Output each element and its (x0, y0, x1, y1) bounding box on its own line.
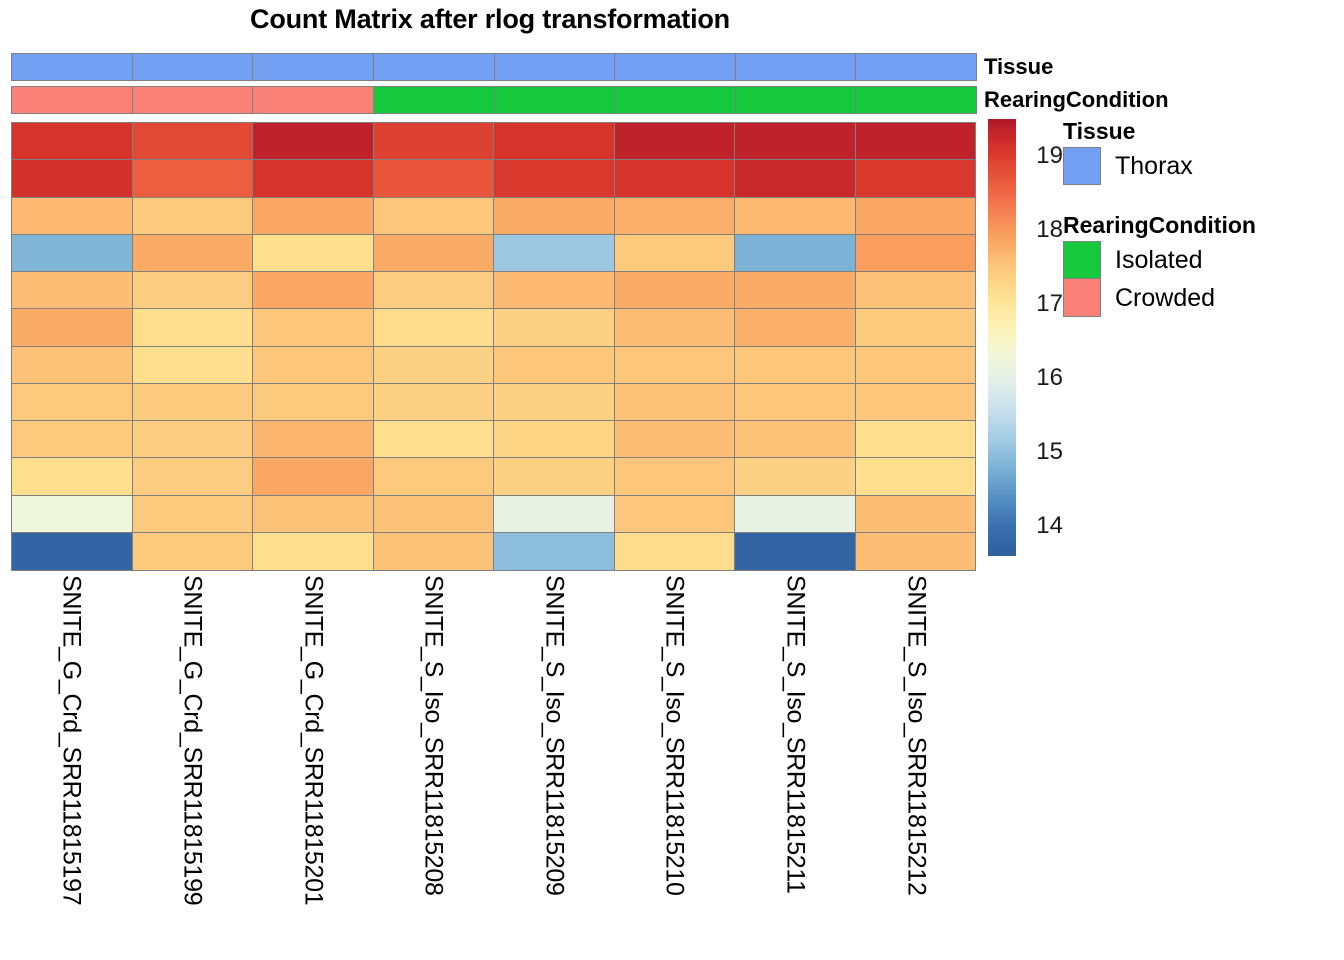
heatmap-cell (133, 347, 254, 384)
heatmap-row (12, 421, 975, 458)
heatmap-cell (253, 123, 374, 160)
heatmap-cell (615, 198, 736, 235)
heatmap-cell (735, 309, 856, 346)
heatmap-cell (494, 384, 615, 421)
heatmap-row (12, 160, 975, 197)
tissue-annotation-cell (614, 53, 736, 81)
tissue-annotation-cell (494, 53, 616, 81)
tissue-annotation-row (11, 53, 976, 81)
rearing-condition-annotation-row (11, 86, 976, 114)
heatmap-cell (374, 347, 495, 384)
legend-rearing-condition-items: IsolatedCrowded (1063, 241, 1256, 317)
heatmap-cell (12, 235, 133, 272)
column-labels: SNITE_G_Crd_SRR11815197SNITE_G_Crd_SRR11… (11, 575, 976, 955)
heatmap-cell (735, 235, 856, 272)
heatmap-cell (494, 123, 615, 160)
heatmap-cell (12, 309, 133, 346)
heatmap-cell (856, 235, 976, 272)
rearing-condition-annotation-cell (735, 86, 857, 114)
heatmap-cell (253, 533, 374, 570)
legend-tissue-title: Tissue (1063, 118, 1193, 145)
heatmap-cell (856, 533, 976, 570)
legend-rearing-condition-swatch (1063, 279, 1101, 317)
heatmap-cell (253, 384, 374, 421)
rearing-condition-annotation-label: RearingCondition (984, 86, 1169, 114)
legend-tissue-items: Thorax (1063, 147, 1193, 185)
heatmap-row (12, 496, 975, 533)
heatmap-row (12, 384, 975, 421)
heatmap-cell (856, 198, 976, 235)
heatmap-cell (735, 384, 856, 421)
column-label-slot: SNITE_G_Crd_SRR11815197 (11, 575, 132, 955)
heatmap-cell (133, 272, 254, 309)
heatmap-cell (374, 458, 495, 495)
column-label: SNITE_G_Crd_SRR11815201 (298, 575, 327, 905)
heatmap-cell (253, 272, 374, 309)
heatmap-cell (735, 533, 856, 570)
heatmap-grid (11, 122, 976, 571)
heatmap-cell (615, 123, 736, 160)
heatmap-cell (856, 347, 976, 384)
tissue-annotation-cell (132, 53, 254, 81)
heatmap-cell (615, 272, 736, 309)
heatmap-row (12, 533, 975, 570)
heatmap-cell (856, 458, 976, 495)
legend-rearing-condition-item[interactable]: Isolated (1063, 241, 1256, 279)
column-label: SNITE_S_Iso_SRR11815210 (660, 575, 689, 896)
heatmap-cell (253, 160, 374, 197)
heatmap-cell (133, 496, 254, 533)
legend-tissue-swatch (1063, 147, 1101, 185)
column-label-slot: SNITE_S_Iso_SRR11815211 (735, 575, 856, 955)
heatmap-cell (12, 496, 133, 533)
heatmap-cell (133, 198, 254, 235)
legend-tissue: Tissue Thorax (1063, 118, 1193, 185)
heatmap-cell (494, 235, 615, 272)
heatmap-cell (12, 458, 133, 495)
legend-rearing-condition: RearingCondition IsolatedCrowded (1063, 212, 1256, 317)
column-label-slot: SNITE_G_Crd_SRR11815199 (132, 575, 253, 955)
heatmap-cell (735, 421, 856, 458)
heatmap-cell (133, 533, 254, 570)
column-label-slot: SNITE_S_Iso_SRR11815209 (494, 575, 615, 955)
colorbar-tick: 15 (1019, 440, 1063, 464)
rearing-condition-annotation-cell (252, 86, 374, 114)
heatmap-row (12, 198, 975, 235)
heatmap-figure: Count Matrix after rlog transformation T… (0, 0, 1344, 960)
colorbar-tick: 14 (1019, 514, 1063, 538)
heatmap-cell (735, 458, 856, 495)
heatmap-cell (856, 123, 976, 160)
colorbar-tick: 17 (1019, 292, 1063, 316)
rearing-condition-annotation-cell (494, 86, 616, 114)
heatmap-cell (615, 533, 736, 570)
heatmap-cell (253, 496, 374, 533)
heatmap-cell (374, 160, 495, 197)
heatmap-cell (374, 198, 495, 235)
tissue-annotation-cell (373, 53, 495, 81)
heatmap-cell (253, 347, 374, 384)
colorbar-tick: 18 (1019, 218, 1063, 242)
column-label: SNITE_G_Crd_SRR11815199 (177, 575, 206, 905)
heatmap-cell (735, 347, 856, 384)
colorbar-tick: 16 (1019, 366, 1063, 390)
colorbar-gradient (988, 119, 1016, 556)
heatmap-cell (856, 309, 976, 346)
heatmap-row (12, 309, 975, 346)
heatmap-cell (615, 458, 736, 495)
heatmap-cell (856, 272, 976, 309)
rearing-condition-annotation-cell (855, 86, 977, 114)
heatmap-cell (856, 160, 976, 197)
column-label-slot: SNITE_S_Iso_SRR11815212 (855, 575, 976, 955)
heatmap-cell (615, 384, 736, 421)
column-label: SNITE_G_Crd_SRR11815197 (57, 575, 86, 905)
column-label: SNITE_S_Iso_SRR11815208 (419, 575, 448, 896)
heatmap-cell (12, 160, 133, 197)
heatmap-cell (735, 272, 856, 309)
rearing-condition-annotation-cell (132, 86, 254, 114)
heatmap-cell (615, 347, 736, 384)
heatmap-cell (374, 533, 495, 570)
legend-tissue-label: Thorax (1115, 152, 1193, 181)
heatmap-row (12, 347, 975, 384)
heatmap-row (12, 235, 975, 272)
heatmap-cell (494, 458, 615, 495)
tissue-annotation-label: Tissue (984, 53, 1053, 81)
heatmap-cell (133, 421, 254, 458)
legend-rearing-condition-swatch (1063, 241, 1101, 279)
legend-rearing-condition-item[interactable]: Crowded (1063, 279, 1256, 317)
page-title: Count Matrix after rlog transformation (0, 4, 980, 35)
tissue-annotation-cell (855, 53, 977, 81)
heatmap-cell (253, 198, 374, 235)
heatmap-cell (374, 272, 495, 309)
column-label-slot: SNITE_G_Crd_SRR11815201 (252, 575, 373, 955)
legend-rearing-condition-title: RearingCondition (1063, 212, 1256, 239)
heatmap-cell (856, 421, 976, 458)
legend-rearing-condition-label: Isolated (1115, 246, 1203, 275)
heatmap-cell (133, 458, 254, 495)
heatmap-cell (374, 235, 495, 272)
heatmap-cell (253, 235, 374, 272)
heatmap-row (12, 123, 975, 160)
heatmap-cell (374, 384, 495, 421)
heatmap-cell (253, 458, 374, 495)
heatmap-cell (615, 421, 736, 458)
heatmap-row (12, 272, 975, 309)
heatmap-cell (133, 160, 254, 197)
column-label: SNITE_S_Iso_SRR11815212 (901, 575, 930, 896)
heatmap-cell (735, 496, 856, 533)
heatmap-cell (133, 309, 254, 346)
heatmap-cell (374, 421, 495, 458)
heatmap-cell (615, 160, 736, 197)
tissue-annotation-cell (735, 53, 857, 81)
column-label: SNITE_S_Iso_SRR11815209 (539, 575, 568, 896)
heatmap-cell (494, 347, 615, 384)
heatmap-cell (374, 309, 495, 346)
heatmap-cell (12, 198, 133, 235)
heatmap-cell (494, 309, 615, 346)
heatmap-row (12, 458, 975, 495)
legend-rearing-condition-label: Crowded (1115, 284, 1215, 313)
heatmap-cell (494, 198, 615, 235)
colorbar-tick: 19 (1019, 144, 1063, 168)
heatmap-cell (374, 496, 495, 533)
heatmap-cell (494, 272, 615, 309)
rearing-condition-annotation-cell (373, 86, 495, 114)
heatmap-cell (253, 309, 374, 346)
heatmap-cell (133, 235, 254, 272)
heatmap-cell (133, 384, 254, 421)
heatmap-cell (12, 123, 133, 160)
heatmap-cell (494, 496, 615, 533)
heatmap-cell (12, 421, 133, 458)
legend-tissue-item[interactable]: Thorax (1063, 147, 1193, 185)
heatmap-cell (856, 384, 976, 421)
heatmap-cell (494, 533, 615, 570)
heatmap-cell (374, 123, 495, 160)
heatmap-cell (494, 160, 615, 197)
heatmap-cell (253, 421, 374, 458)
column-label: SNITE_S_Iso_SRR11815211 (781, 575, 810, 894)
heatmap-cell (615, 309, 736, 346)
rearing-condition-annotation-cell (11, 86, 133, 114)
colorbar-tick-labels: 191817161514 (1019, 119, 1065, 556)
heatmap-cell (735, 160, 856, 197)
heatmap-cell (615, 235, 736, 272)
heatmap-cell (12, 384, 133, 421)
tissue-annotation-cell (252, 53, 374, 81)
heatmap-cell (494, 421, 615, 458)
heatmap-cell (12, 347, 133, 384)
heatmap-cell (615, 496, 736, 533)
heatmap-cell (12, 272, 133, 309)
heatmap-cell (856, 496, 976, 533)
heatmap-cell (735, 198, 856, 235)
rearing-condition-annotation-cell (614, 86, 736, 114)
column-label-slot: SNITE_S_Iso_SRR11815210 (614, 575, 735, 955)
column-label-slot: SNITE_S_Iso_SRR11815208 (373, 575, 494, 955)
heatmap-cell (133, 123, 254, 160)
heatmap-cell (12, 533, 133, 570)
tissue-annotation-cell (11, 53, 133, 81)
heatmap-cell (735, 123, 856, 160)
